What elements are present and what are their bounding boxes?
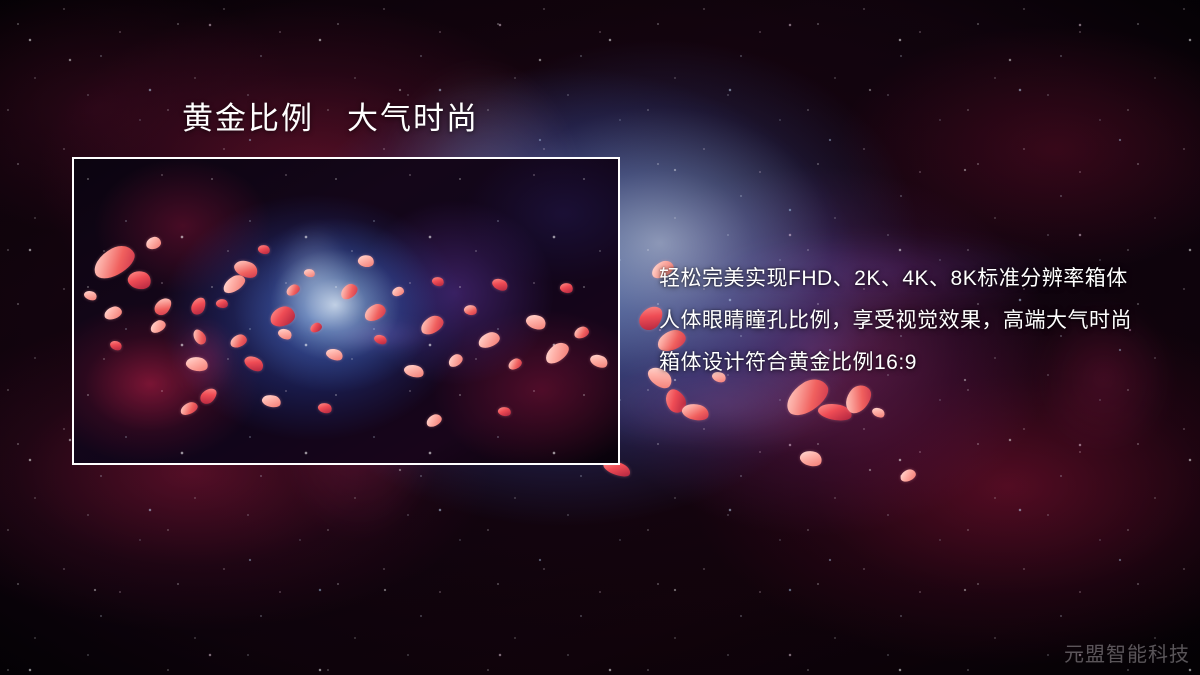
petal [403, 362, 426, 380]
petal [103, 305, 124, 321]
petal [309, 321, 323, 334]
petal [362, 301, 388, 323]
petal [229, 333, 249, 350]
petal [899, 468, 918, 484]
petal [215, 298, 229, 309]
petal [242, 353, 266, 375]
petal [325, 346, 345, 363]
petal [418, 313, 447, 338]
petal [542, 339, 573, 367]
petal [285, 283, 302, 298]
body-line-1: 轻松完美实现FHD、2K、4K、8K标准分辨率箱体 [659, 258, 1179, 300]
petal [257, 243, 271, 256]
petal [179, 400, 200, 417]
petal [109, 339, 124, 353]
petal [391, 286, 405, 297]
petal [559, 281, 574, 295]
petal [83, 289, 99, 303]
petal [463, 303, 478, 316]
petal [798, 448, 824, 469]
petal [524, 312, 548, 333]
petal [145, 236, 162, 250]
petal [588, 351, 610, 370]
petal [490, 276, 509, 294]
body-line-2: 人体眼睛瞳孔比例，享受视觉效果，高端大气时尚 [659, 300, 1179, 342]
petal [497, 406, 512, 418]
petal [276, 326, 293, 341]
petal [680, 401, 710, 423]
petal [303, 267, 316, 278]
petal [261, 393, 283, 410]
panel-petal-layer [74, 159, 618, 463]
watermark: 元盟智能科技 [1064, 638, 1190, 667]
petal [338, 281, 360, 302]
petal [661, 386, 690, 417]
page-title: 黄金比例 大气时尚 [182, 100, 479, 139]
petal [507, 357, 524, 372]
body-line-3: 箱体设计符合黄金比例16:9 [659, 342, 1179, 384]
petal [871, 405, 887, 419]
petal [189, 295, 207, 316]
petal [446, 352, 464, 369]
petal [317, 401, 334, 415]
petal [431, 275, 445, 288]
image-panel [72, 157, 620, 465]
petal [357, 253, 375, 269]
petal [424, 412, 443, 429]
petal [573, 325, 590, 340]
body-copy: 轻松完美实现FHD、2K、4K、8K标准分辨率箱体 人体眼睛瞳孔比例，享受视觉效… [659, 258, 1179, 384]
petal [373, 333, 389, 347]
petal [476, 330, 501, 350]
petal [840, 380, 876, 417]
petal [152, 295, 174, 319]
petal [190, 327, 209, 346]
petal [268, 304, 297, 328]
petal [126, 268, 153, 292]
petal [817, 401, 854, 424]
petal [198, 385, 220, 407]
petal [148, 318, 167, 335]
slide-canvas: 黄金比例 大气时尚 轻松完美实现FHD、2K、4K、8K标准分辨率箱体 人体眼睛… [0, 0, 1200, 675]
petal [185, 355, 210, 374]
